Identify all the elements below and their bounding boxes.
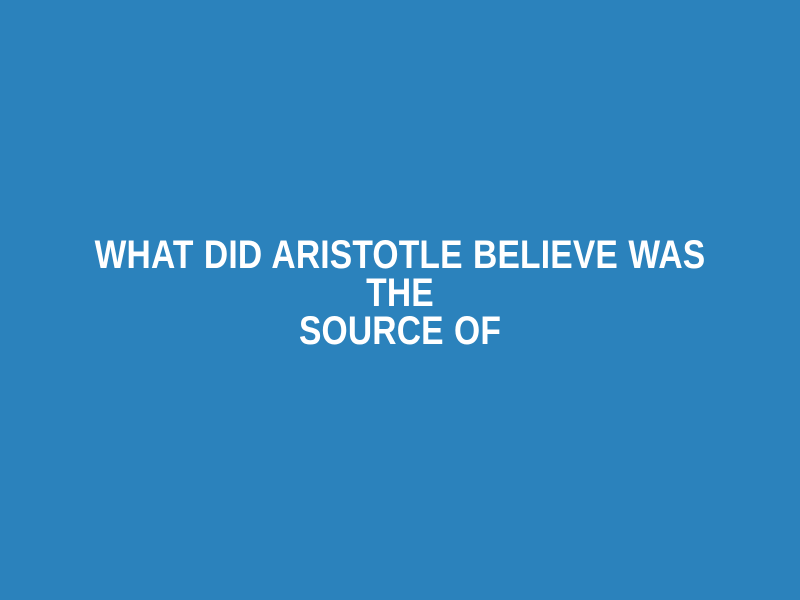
page-title: WHAT DID ARISTOTLE BELIEVE WAS THE SOURC… — [94, 236, 706, 350]
page-title-line-2: SOURCE OF — [94, 312, 706, 350]
title-card: WHAT DID ARISTOTLE BELIEVE WAS THE SOURC… — [0, 0, 800, 600]
title-block: WHAT DID ARISTOTLE BELIEVE WAS THE SOURC… — [0, 236, 800, 350]
page-title-line-1: WHAT DID ARISTOTLE BELIEVE WAS THE — [94, 236, 706, 312]
